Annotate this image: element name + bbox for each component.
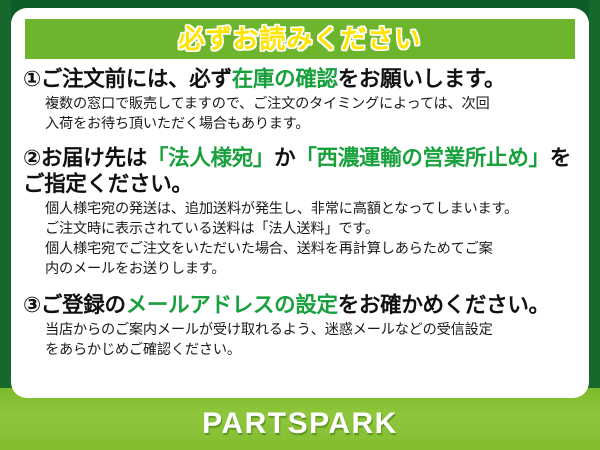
notice-item-list: ①ご注文前には、必ず在庫の確認をお願いします。 複数の窓口で販売してますので、ご…	[11, 66, 589, 360]
title-banner: 必ずお読みください	[25, 19, 575, 59]
page-title: 必ずお読みください	[178, 26, 421, 52]
notice-item-3-heading-part-3: をお確かめください。	[338, 293, 550, 317]
notice-item-3: ③ご登録のメールアドレスの設定をお確かめください。 当店からのご案内メールが受け…	[11, 292, 589, 361]
notice-item-2-heading: ②お届け先は「法人様宛」か「西濃運輸の営業所止め」をご指定ください。	[23, 145, 579, 197]
notice-item-1-body-line-2: 入荷をお待ち頂いただく場合もあります。	[45, 114, 579, 134]
notice-item-1-body: 複数の窓口で販売してますので、ご注文のタイミングによっては、次回 入荷をお待ち頂…	[23, 94, 579, 134]
frame-border-left	[0, 0, 11, 392]
notice-item-1-heading-part-3: をお願いします。	[338, 67, 505, 91]
notice-item-3-marker: ③	[23, 293, 41, 317]
notice-frame: 必ずお読みください ①ご注文前には、必ず在庫の確認をお願いします。 複数の窓口で…	[0, 0, 600, 450]
notice-item-1-heading-part-1: ご注文前には、必ず	[41, 67, 232, 91]
notice-item-2-body-line-1: 個人様宅宛の発送は、追加送料が発生し、非常に高額となってしまいます。	[45, 199, 579, 219]
notice-item-3-body-line-2: をあらかじめご確認ください。	[45, 340, 579, 360]
frame-border-right	[589, 0, 600, 392]
notice-item-2-heading-part-3: か	[274, 146, 295, 170]
notice-item-3-body-line-1: 当店からのご案内メールが受け取れるよう、迷惑メールなどの受信設定	[45, 320, 579, 340]
notice-item-3-body: 当店からのご案内メールが受け取れるよう、迷惑メールなどの受信設定 をあらかじめご…	[23, 320, 579, 360]
notice-item-2-body-line-2: ご注文時に表示されている送料は「法人送料」です。	[45, 219, 579, 239]
brand-wordmark: PARTSPARK	[0, 407, 600, 441]
notice-item-2-body: 個人様宅宛の発送は、追加送料が発生し、非常に高額となってしまいます。 ご注文時に…	[23, 199, 579, 280]
notice-item-2-heading-highlight-1: 「法人様宛」	[147, 146, 274, 170]
notice-item-1-marker: ①	[23, 67, 41, 91]
notice-card: 必ずお読みください ①ご注文前には、必ず在庫の確認をお願いします。 複数の窓口で…	[11, 8, 589, 398]
notice-item-3-heading-highlight: メールアドレスの設定	[126, 293, 338, 317]
notice-item-1: ①ご注文前には、必ず在庫の確認をお願いします。 複数の窓口で販売してますので、ご…	[11, 66, 589, 135]
notice-item-2-body-line-4: 内のメールをお送りします。	[45, 259, 579, 279]
notice-item-1-body-line-1: 複数の窓口で販売してますので、ご注文のタイミングによっては、次回	[45, 94, 579, 114]
notice-item-1-heading: ①ご注文前には、必ず在庫の確認をお願いします。	[23, 66, 579, 92]
notice-item-2-marker: ②	[23, 146, 41, 170]
notice-item-2-body-line-3: 個人様宅宛でご注文をいただいた場合、送料を再計算しあらためてご案	[45, 239, 579, 259]
notice-item-3-heading: ③ご登録のメールアドレスの設定をお確かめください。	[23, 292, 579, 318]
notice-item-2: ②お届け先は「法人様宛」か「西濃運輸の営業所止め」をご指定ください。 個人様宅宛…	[11, 145, 589, 280]
notice-item-2-heading-highlight-2: 「西濃運輸の営業所止め」	[295, 146, 549, 170]
notice-item-2-heading-part-1: お届け先は	[41, 146, 147, 170]
notice-item-1-heading-highlight: 在庫の確認	[232, 67, 338, 91]
notice-item-3-heading-part-1: ご登録の	[41, 293, 126, 317]
